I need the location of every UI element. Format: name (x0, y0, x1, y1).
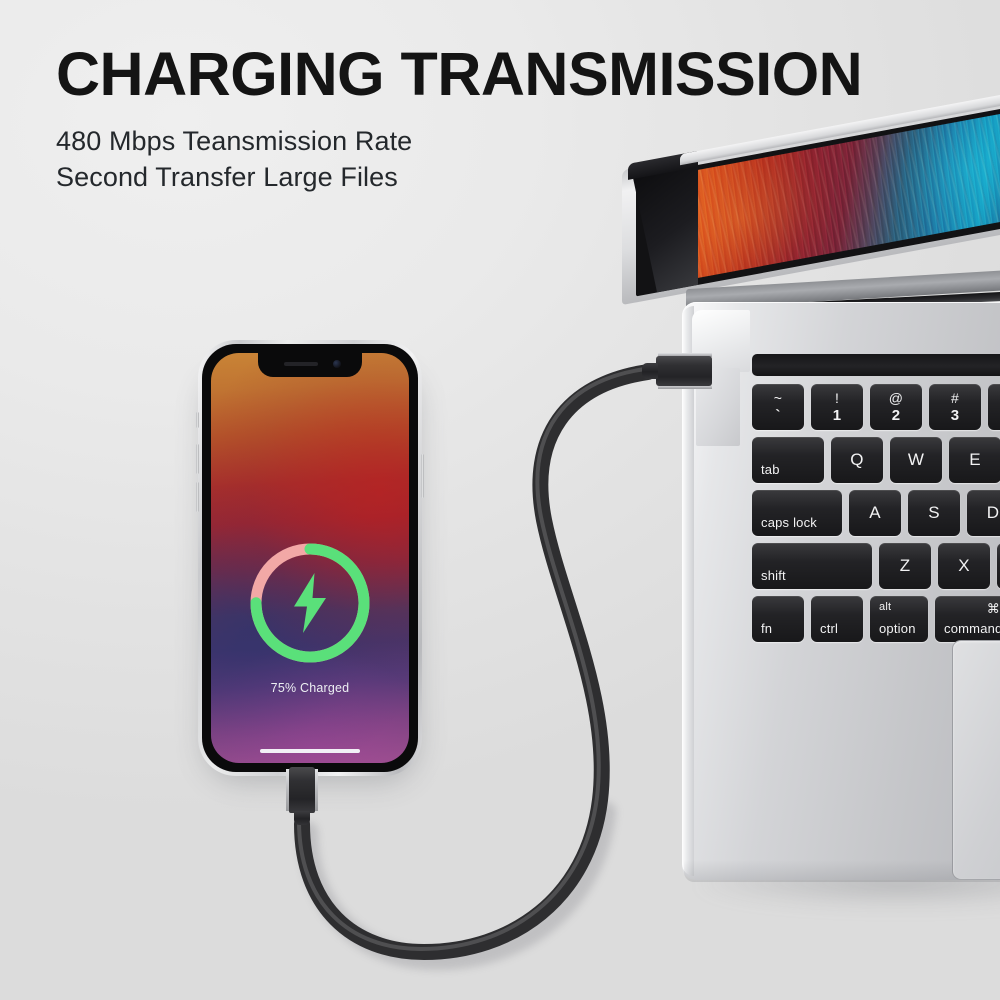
key-top-glyph: # (929, 390, 981, 406)
connector-body (656, 356, 712, 386)
lightning-bolt-icon (287, 573, 333, 633)
subtitle-line-2: Second Transfer Large Files (56, 162, 398, 193)
phone-device: 75% Charged (198, 340, 422, 776)
key-label: X (938, 543, 990, 589)
key-label: shift (761, 568, 786, 583)
product-marketing-image: CHARGING TRANSMISSION 480 Mbps Teansmiss… (0, 0, 1000, 1000)
charge-status-label: 75% Charged (211, 681, 409, 695)
phone-power-button[interactable] (421, 454, 424, 498)
key-top-glyph: @ (870, 390, 922, 406)
charging-progress-ring (246, 539, 374, 667)
key-label: W (890, 437, 942, 483)
key-label: Q (831, 437, 883, 483)
phone-notch (258, 353, 362, 377)
subtitle-line-1: 480 Mbps Teansmission Rate (56, 126, 412, 157)
key-tab[interactable]: tab (752, 437, 824, 483)
key-e[interactable]: E (949, 437, 1000, 483)
key-a[interactable]: A (849, 490, 901, 536)
phone-volume-down-button[interactable] (196, 482, 199, 512)
connector-strain-relief (294, 811, 310, 825)
key-fn[interactable]: fn (752, 596, 804, 642)
key-label: ctrl (820, 621, 838, 636)
key-z[interactable]: Z (879, 543, 931, 589)
key-shift[interactable]: shift (752, 543, 872, 589)
key-bottom-glyph: 3 (929, 407, 981, 424)
key-caps-lock[interactable]: caps lock (752, 490, 842, 536)
key-`[interactable]: ~` (752, 384, 804, 430)
key-bottom-glyph: ` (752, 407, 804, 424)
phone-screen[interactable]: 75% Charged (211, 353, 409, 763)
key-label: option (879, 621, 916, 636)
command-symbol-icon: ⌘ (987, 601, 1000, 617)
phone-mute-switch[interactable] (196, 412, 199, 428)
key-ctrl[interactable]: ctrl (811, 596, 863, 642)
key-label: A (849, 490, 901, 536)
connector-body (289, 767, 315, 813)
page-title: CHARGING TRANSMISSION (56, 42, 862, 106)
key-label: caps lock (761, 515, 817, 530)
key-label: D (967, 490, 1000, 536)
key-option[interactable]: altoption (870, 596, 928, 642)
key-top-glyph: $ (988, 390, 1000, 406)
phone-volume-up-button[interactable] (196, 444, 199, 474)
usb-c-connector-laptop-end (640, 351, 714, 391)
key-label: tab (761, 462, 780, 477)
laptop-trackpad[interactable] (952, 640, 1000, 880)
key-bottom-glyph: 1 (811, 407, 863, 424)
key-top-glyph: ~ (752, 390, 804, 406)
key-q[interactable]: Q (831, 437, 883, 483)
home-indicator[interactable] (260, 749, 360, 753)
key-label: E (949, 437, 1000, 483)
laptop-function-row-strip (752, 354, 1000, 376)
key-command[interactable]: ⌘command (935, 596, 1000, 642)
key-label: Z (879, 543, 931, 589)
speaker-grille-icon (284, 362, 318, 366)
key-bottom-glyph: 4 (988, 407, 1000, 424)
phone-frame: 75% Charged (198, 340, 422, 776)
key-label: fn (761, 621, 772, 636)
connector-strain-relief (642, 363, 658, 379)
key-2[interactable]: @2 (870, 384, 922, 430)
key-4[interactable]: $4 (988, 384, 1000, 430)
phone-bezel: 75% Charged (202, 344, 418, 772)
key-x[interactable]: X (938, 543, 990, 589)
key-1[interactable]: !1 (811, 384, 863, 430)
key-s[interactable]: S (908, 490, 960, 536)
laptop-device: ~`!1@2#3$4tabQWERcaps lockASDshiftZXCfnc… (600, 170, 1000, 930)
key-bottom-glyph: 2 (870, 407, 922, 424)
key-3[interactable]: #3 (929, 384, 981, 430)
cable-shadow (308, 812, 606, 960)
key-top-glyph: ! (811, 390, 863, 406)
key-label: command (944, 621, 1000, 636)
laptop-base-left-edge (682, 306, 694, 876)
key-alt-label: alt (879, 601, 891, 613)
key-d[interactable]: D (967, 490, 1000, 536)
front-camera-icon (333, 360, 341, 368)
key-label: S (908, 490, 960, 536)
usb-c-connector-phone-end (283, 767, 321, 831)
laptop-lid (622, 88, 1000, 305)
key-w[interactable]: W (890, 437, 942, 483)
